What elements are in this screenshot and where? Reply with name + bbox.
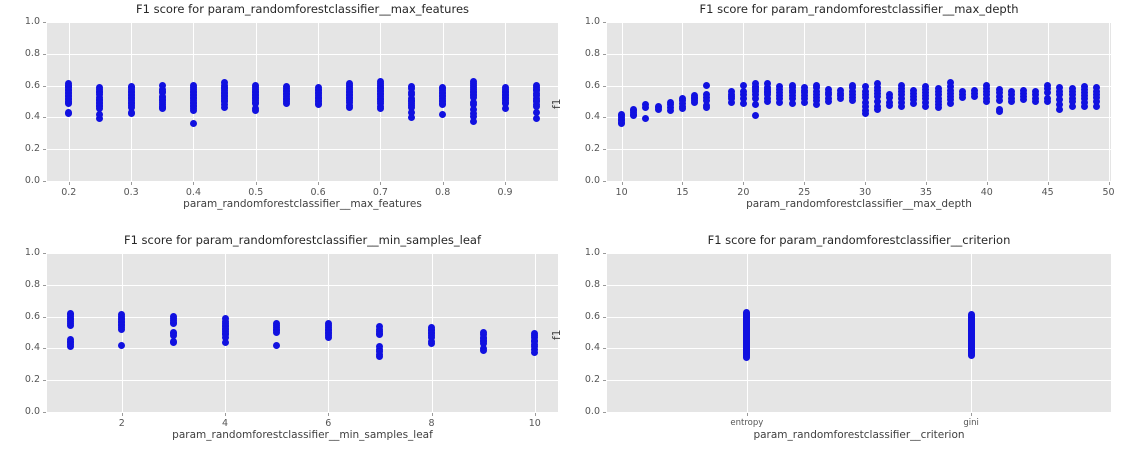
x-axis-label-criterion: param_randomforestclassifier__criterion (607, 429, 1111, 441)
y-tick-label: 0.0 (569, 406, 600, 417)
y-tick-label: 1.0 (569, 247, 600, 258)
x-tick-label: entropy (707, 418, 787, 428)
y-tick-mark (603, 285, 606, 286)
y-tick-label: 0.8 (569, 279, 600, 290)
gridline-horizontal (607, 317, 1111, 318)
y-tick-label: 0.4 (569, 342, 600, 353)
y-tick-mark (603, 348, 606, 349)
y-tick-mark (603, 317, 606, 318)
plot-title-criterion: F1 score for param_randomforestclassifie… (607, 233, 1111, 247)
y-tick-label: 0.6 (569, 311, 600, 322)
gridline-horizontal (607, 253, 1111, 254)
y-tick-mark (603, 253, 606, 254)
gridline-horizontal (607, 348, 1111, 349)
y-axis-label-criterion: f1 (551, 330, 563, 340)
plot-area-criterion (607, 253, 1111, 412)
x-tick-mark (747, 413, 748, 416)
figure-canvas: F1 score for param_randomforestclassifie… (0, 0, 1144, 461)
gridline-horizontal (607, 380, 1111, 381)
gridline-horizontal (607, 285, 1111, 286)
data-point (968, 352, 975, 359)
y-tick-label: 0.2 (569, 374, 600, 385)
x-tick-mark (971, 413, 972, 416)
y-tick-mark (603, 412, 606, 413)
y-tick-mark (603, 380, 606, 381)
data-point (743, 354, 750, 361)
x-tick-label: gini (931, 418, 1011, 428)
